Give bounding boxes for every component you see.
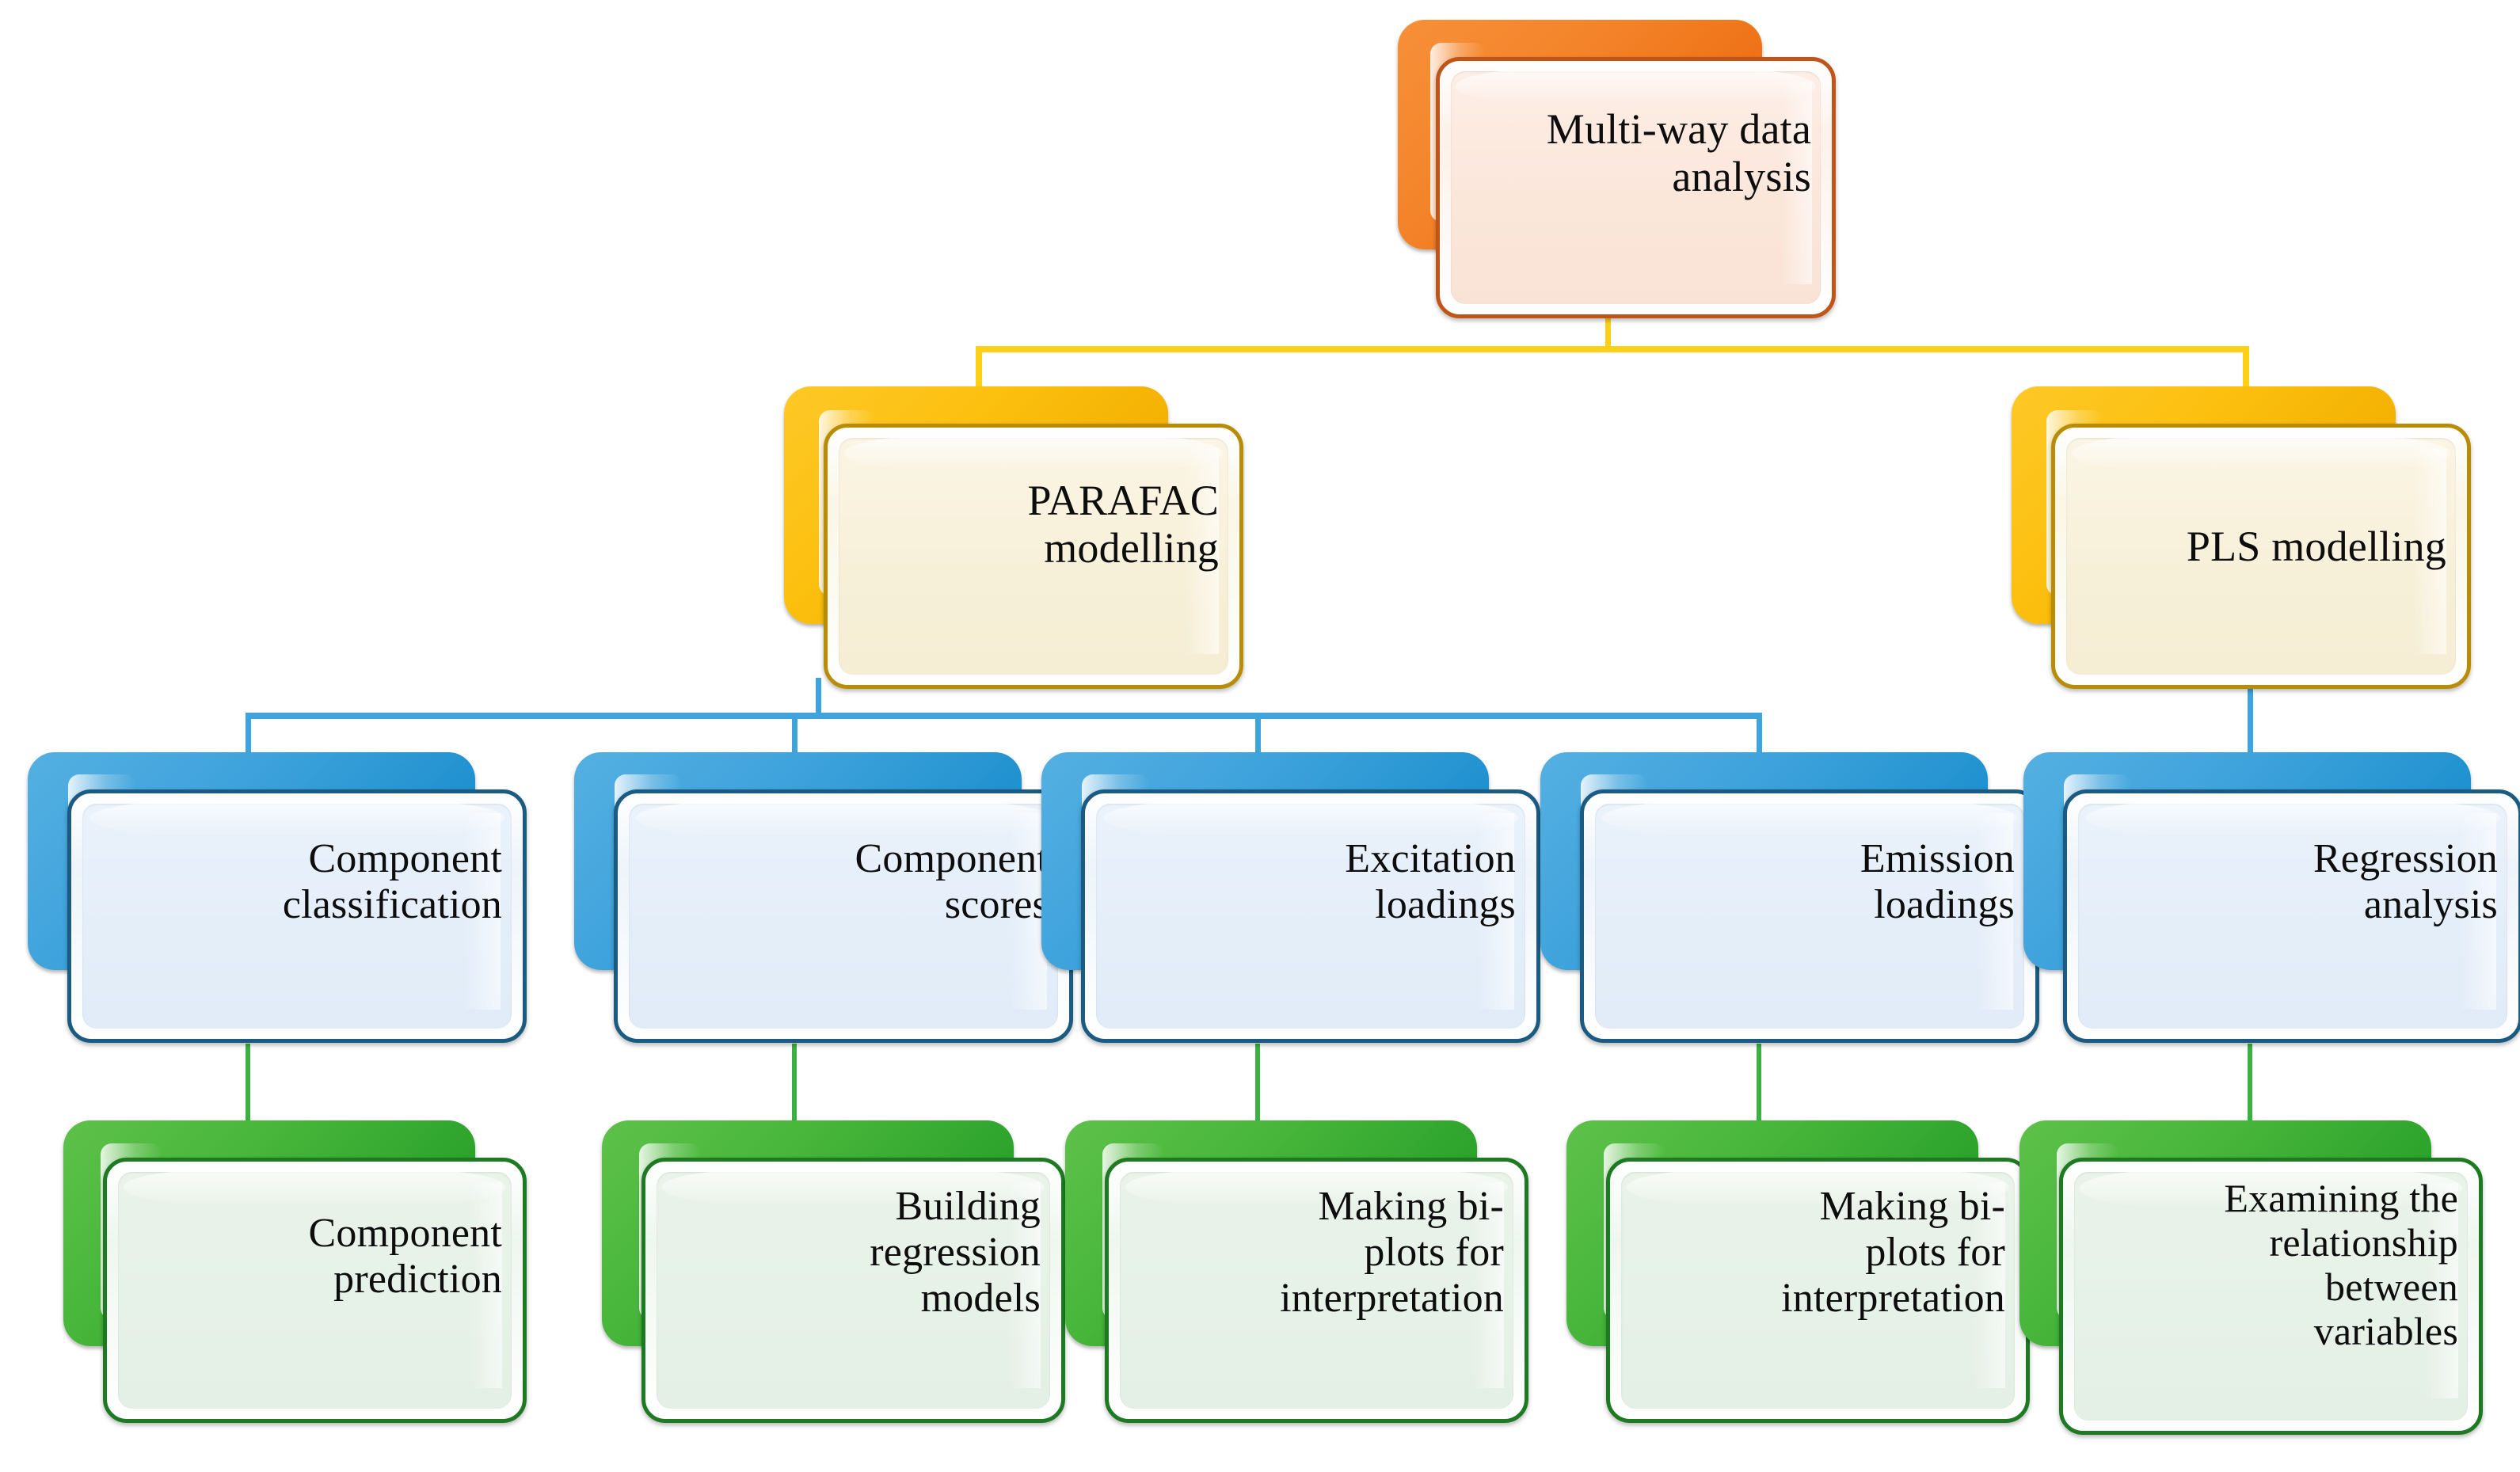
connector-yellow-bus <box>976 346 2249 352</box>
node-emission-loadings-label: Emission loadings <box>1597 836 2015 928</box>
node-pls-label: PLS modelling <box>2068 523 2446 570</box>
node-parafac[interactable]: PARAFAC modelling <box>784 386 1212 656</box>
connector-green-drop-5 <box>2248 1044 2252 1123</box>
green-front-plate-5: Examining the relationship between varia… <box>2059 1158 2483 1435</box>
node-biplots-emission[interactable]: Making bi- plots for interpretation <box>1566 1120 1978 1382</box>
connector-green-drop-2 <box>792 1044 797 1123</box>
connector-blue-drop-2 <box>792 713 797 756</box>
blue-front-plate-4: Emission loadings <box>1580 789 2039 1043</box>
node-component-prediction[interactable]: Component prediction <box>63 1120 475 1382</box>
connector-green-drop-1 <box>246 1044 250 1123</box>
node-building-regression[interactable]: Building regression models <box>602 1120 1014 1382</box>
node-excitation-loadings[interactable]: Excitation loadings <box>1041 752 1485 1006</box>
node-emission-loadings[interactable]: Emission loadings <box>1540 752 1984 1006</box>
blue-front-plate-2: Component scores <box>614 789 1073 1043</box>
node-regression-analysis[interactable]: Regression analysis <box>2023 752 2467 1006</box>
node-component-scores[interactable]: Component scores <box>574 752 1018 1006</box>
green-front-plate-3: Making bi- plots for interpretation <box>1105 1158 1528 1423</box>
node-component-classification-label: Component classification <box>84 836 502 928</box>
node-biplots-emission-label: Making bi- plots for interpretation <box>1623 1184 2005 1322</box>
node-examining-relationship-label: Examining the relationship between varia… <box>2076 1176 2458 1353</box>
diagram-canvas: Multi-way data analysis PARAFAC modellin… <box>0 0 2520 1472</box>
node-regression-analysis-label: Regression analysis <box>2080 836 2498 928</box>
connector-pls-to-regression <box>2248 678 2253 757</box>
node-parafac-label: PARAFAC modelling <box>840 477 1219 572</box>
node-component-prediction-label: Component prediction <box>120 1211 502 1303</box>
node-examining-relationship[interactable]: Examining the relationship between varia… <box>2019 1120 2431 1382</box>
connector-blue-drop-1 <box>246 713 251 756</box>
connector-green-drop-4 <box>1757 1044 1761 1123</box>
green-front-plate-2: Building regression models <box>641 1158 1065 1423</box>
connector-green-drop-3 <box>1255 1044 1260 1123</box>
connector-blue-drop-4 <box>1757 713 1762 756</box>
blue-front-plate-5: Regression analysis <box>2063 789 2520 1043</box>
connector-blue-bus <box>246 713 1762 719</box>
node-biplots-excitation[interactable]: Making bi- plots for interpretation <box>1065 1120 1477 1382</box>
node-root[interactable]: Multi-way data analysis <box>1398 20 1798 281</box>
parafac-front-plate: PARAFAC modelling <box>824 424 1243 689</box>
pls-front-plate: PLS modelling <box>2051 424 2471 689</box>
connector-parafac-stem <box>816 678 821 717</box>
root-front-plate: Multi-way data analysis <box>1436 57 1836 318</box>
node-excitation-loadings-label: Excitation loadings <box>1098 836 1516 928</box>
node-building-regression-label: Building regression models <box>658 1184 1041 1322</box>
connector-blue-drop-3 <box>1255 713 1261 756</box>
node-biplots-excitation-label: Making bi- plots for interpretation <box>1121 1184 1504 1322</box>
node-pls[interactable]: PLS modelling <box>2012 386 2439 656</box>
node-component-scores-label: Component scores <box>630 836 1049 928</box>
node-component-classification[interactable]: Component classification <box>28 752 471 1006</box>
blue-front-plate-3: Excitation loadings <box>1081 789 1540 1043</box>
green-front-plate-1: Component prediction <box>103 1158 527 1423</box>
blue-front-plate-1: Component classification <box>67 789 527 1043</box>
node-root-label: Multi-way data analysis <box>1452 105 1811 201</box>
green-front-plate-4: Making bi- plots for interpretation <box>1606 1158 2030 1423</box>
